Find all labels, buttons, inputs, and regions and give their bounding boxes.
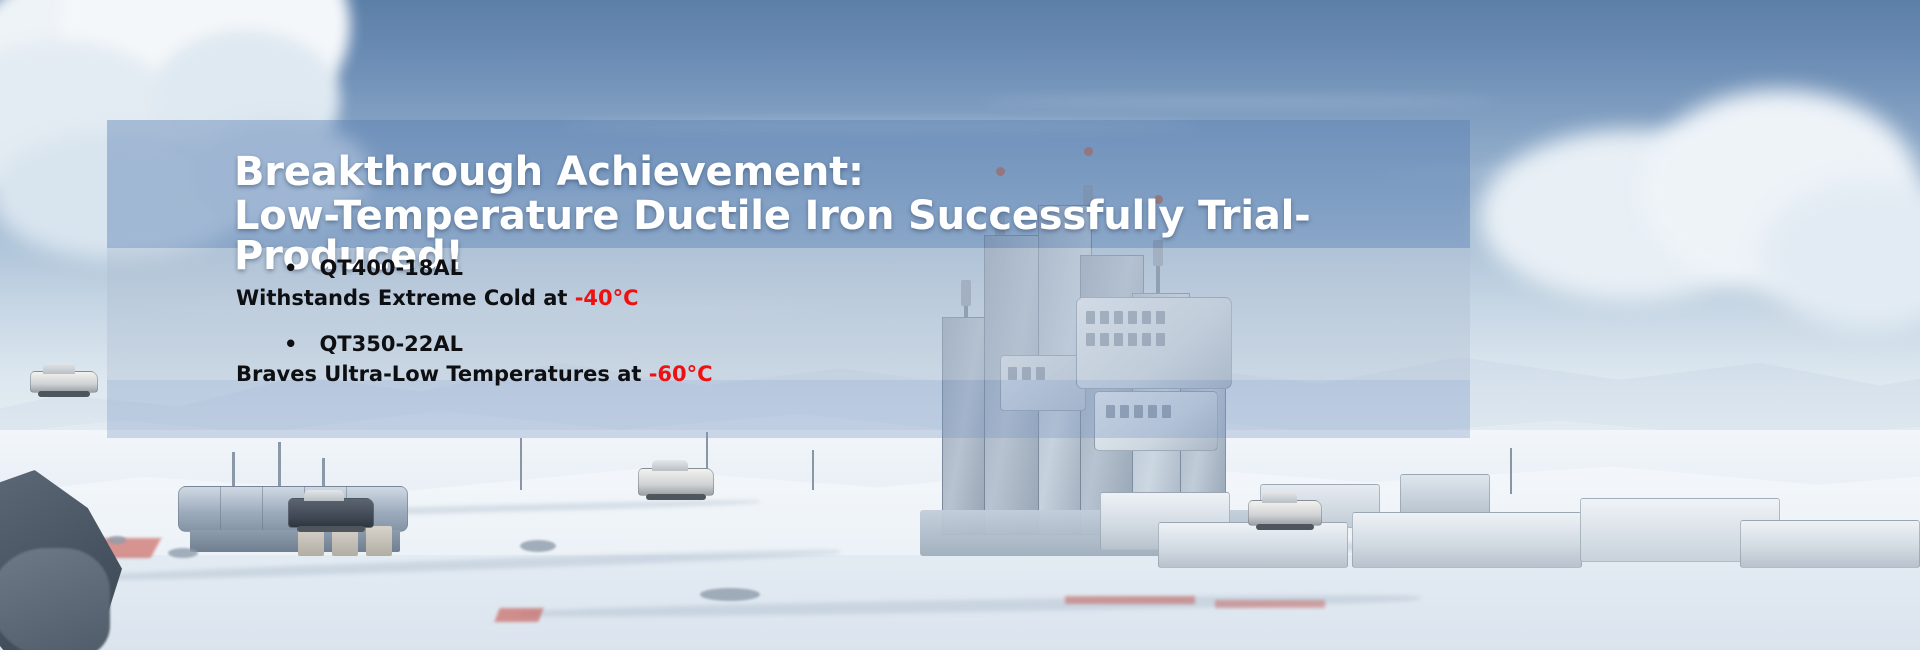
silo — [366, 526, 392, 556]
promotional-banner: Breakthrough Achievement: Low-Temperatur… — [0, 0, 1920, 650]
camp-building — [1400, 474, 1490, 514]
material-grade-label: QT350-22AL — [319, 332, 463, 356]
rock-debris — [168, 548, 198, 558]
ground-marker — [1215, 600, 1325, 608]
bullet-description-text: Braves Ultra-Low Temperatures at — [236, 362, 641, 386]
camp-building — [1352, 512, 1582, 568]
temperature-value: -40°C — [575, 286, 639, 310]
vehicle-suv — [638, 468, 714, 496]
bullet-heading-row: • QT350-22AL — [236, 332, 1136, 356]
rock-debris — [108, 536, 126, 544]
headline-line-1: Breakthrough Achievement: — [234, 152, 1474, 192]
temperature-value: -60°C — [649, 362, 713, 386]
bullet-description-row: Withstands Extreme Cold at -40°C — [236, 286, 1136, 310]
camp-building — [1158, 522, 1348, 568]
station-mast — [322, 458, 325, 488]
ground-marker — [1065, 596, 1195, 604]
tank-seam — [220, 486, 221, 532]
bullet-description-row: Braves Ultra-Low Temperatures at -60°C — [236, 362, 1136, 386]
list-item: • QT400-18AL Withstands Extreme Cold at … — [236, 256, 1136, 310]
camp-building — [1740, 520, 1920, 568]
ground-marker — [494, 608, 543, 622]
vehicle-suv-dark — [288, 498, 374, 528]
bullet-dot-icon: • — [284, 258, 297, 279]
utility-pole — [520, 438, 522, 490]
bullet-heading-row: • QT400-18AL — [236, 256, 1136, 280]
tank-seam — [262, 486, 263, 532]
feature-bullet-list: • QT400-18AL Withstands Extreme Cold at … — [236, 256, 1136, 408]
material-grade-label: QT400-18AL — [319, 256, 463, 280]
station-mast — [278, 442, 281, 488]
utility-pole — [1510, 448, 1512, 494]
vehicle-truck — [30, 371, 98, 393]
station-mast — [232, 452, 235, 488]
rock-debris — [700, 588, 760, 601]
list-item: • QT350-22AL Braves Ultra-Low Temperatur… — [236, 332, 1136, 386]
vehicle-suv — [1248, 500, 1322, 526]
rock-debris — [520, 540, 556, 552]
bullet-dot-icon: • — [284, 334, 297, 355]
foreground-rock — [0, 548, 110, 650]
utility-pole — [812, 450, 814, 490]
research-camp-buildings — [1100, 470, 1920, 640]
bullet-description-text: Withstands Extreme Cold at — [236, 286, 567, 310]
